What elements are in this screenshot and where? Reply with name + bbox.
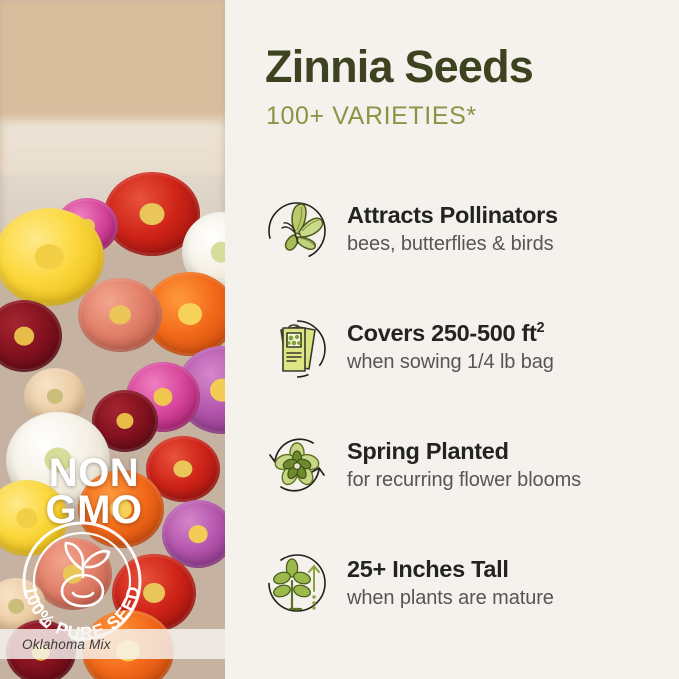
feature-subtext: when sowing 1/4 lb bag	[347, 350, 554, 374]
plant-height-icon	[261, 547, 333, 619]
infographic-canvas: NON GMO 100% PURE SEED	[0, 0, 679, 679]
feature-heading-sup: 2	[537, 320, 545, 336]
page-title: Zinnia Seeds	[265, 44, 533, 89]
feature-subtext: for recurring flower blooms	[347, 468, 581, 492]
feature-row-coverage: Covers 250-500 ft2 when sowing 1/4 lb ba…	[261, 308, 671, 386]
photo-caption: Oklahoma Mix	[0, 629, 225, 659]
feature-row-spring-planted: Spring Planted for recurring flower bloo…	[261, 426, 671, 504]
seed-sprout-icon	[62, 543, 109, 606]
flower-cycle-icon	[261, 429, 333, 501]
product-photo: NON GMO 100% PURE SEED	[0, 0, 225, 679]
page-subtitle: 100+ VARIETIES*	[266, 104, 477, 129]
feature-heading-text: Covers 250-500 ft	[347, 320, 537, 346]
non-gmo-line-1: NON	[28, 455, 160, 492]
feature-heading: Covers 250-500 ft2	[347, 320, 554, 346]
content-panel: Zinnia Seeds 100+ VARIETIES*	[225, 0, 679, 679]
feature-heading: Spring Planted	[347, 438, 581, 464]
feature-heading: Attracts Pollinators	[347, 202, 558, 228]
feature-subtext: bees, butterflies & birds	[347, 232, 558, 256]
butterfly-icon	[261, 193, 333, 265]
feature-row-pollinators: Attracts Pollinators bees, butterflies &…	[261, 190, 671, 268]
feature-heading: 25+ Inches Tall	[347, 556, 554, 582]
feature-row-height: 25+ Inches Tall when plants are mature	[261, 544, 671, 622]
seed-packets-icon	[261, 311, 333, 383]
photo-caption-text: Oklahoma Mix	[0, 637, 111, 652]
feature-subtext: when plants are mature	[347, 586, 554, 610]
